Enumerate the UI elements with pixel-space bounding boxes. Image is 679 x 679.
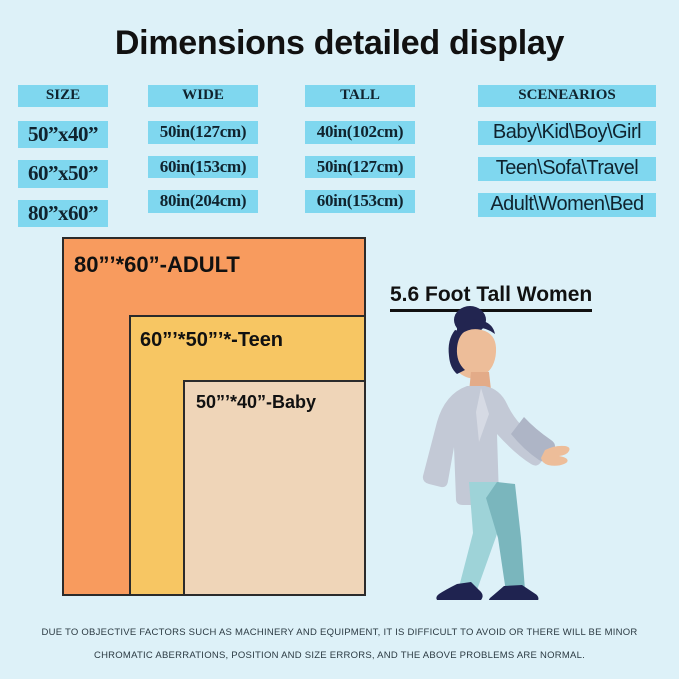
table-cell-wide-2: 60in(153cm) — [148, 156, 258, 179]
column-header-wide: WIDE — [148, 85, 258, 107]
column-header-tall: TALL — [305, 85, 415, 107]
table-cell-size-3: 80”x60” — [18, 200, 108, 227]
size-rect-baby — [183, 380, 366, 596]
woman-figure-icon — [393, 300, 593, 600]
table-column-tall: TALL 40in(102cm) 50in(127cm) 60in(153cm) — [305, 85, 415, 213]
product-dimension-infographic: Dimensions detailed display SIZE 50”x40”… — [0, 0, 679, 679]
table-cell-scenearios-3: Adult\Women\Bed — [478, 193, 656, 217]
table-cell-size-1: 50”x40” — [18, 121, 108, 148]
table-cell-wide-1: 50in(127cm) — [148, 121, 258, 144]
table-column-scenearios: SCENEARIOS Baby\Kid\Boy\Girl Teen\Sofa\T… — [478, 85, 656, 217]
table-cell-tall-3: 60in(153cm) — [305, 190, 415, 213]
table-cell-tall-2: 50in(127cm) — [305, 156, 415, 179]
column-header-size: SIZE — [18, 85, 108, 107]
disclaimer-line-1: DUE TO OBJECTIVE FACTORS SUCH AS MACHINE… — [0, 622, 679, 645]
table-cell-size-2: 60”x50” — [18, 160, 108, 187]
page-title: Dimensions detailed display — [0, 24, 679, 63]
table-column-size: SIZE 50”x40” 60”x50” 80”x60” — [18, 85, 108, 227]
woman-illustration — [393, 300, 593, 600]
disclaimer-line-2: CHROMATIC ABERRATIONS, POSITION AND SIZE… — [0, 645, 679, 668]
table-cell-tall-1: 40in(102cm) — [305, 121, 415, 144]
column-header-scenearios: SCENEARIOS — [478, 85, 656, 107]
table-cell-scenearios-2: Teen\Sofa\Travel — [478, 157, 656, 181]
table-column-wide: WIDE 50in(127cm) 60in(153cm) 80in(204cm) — [148, 85, 258, 213]
table-cell-scenearios-1: Baby\Kid\Boy\Girl — [478, 121, 656, 145]
spec-table: SIZE 50”x40” 60”x50” 80”x60” WIDE 50in(1… — [0, 85, 679, 210]
table-cell-wide-3: 80in(204cm) — [148, 190, 258, 213]
disclaimer-text: DUE TO OBJECTIVE FACTORS SUCH AS MACHINE… — [0, 622, 679, 668]
